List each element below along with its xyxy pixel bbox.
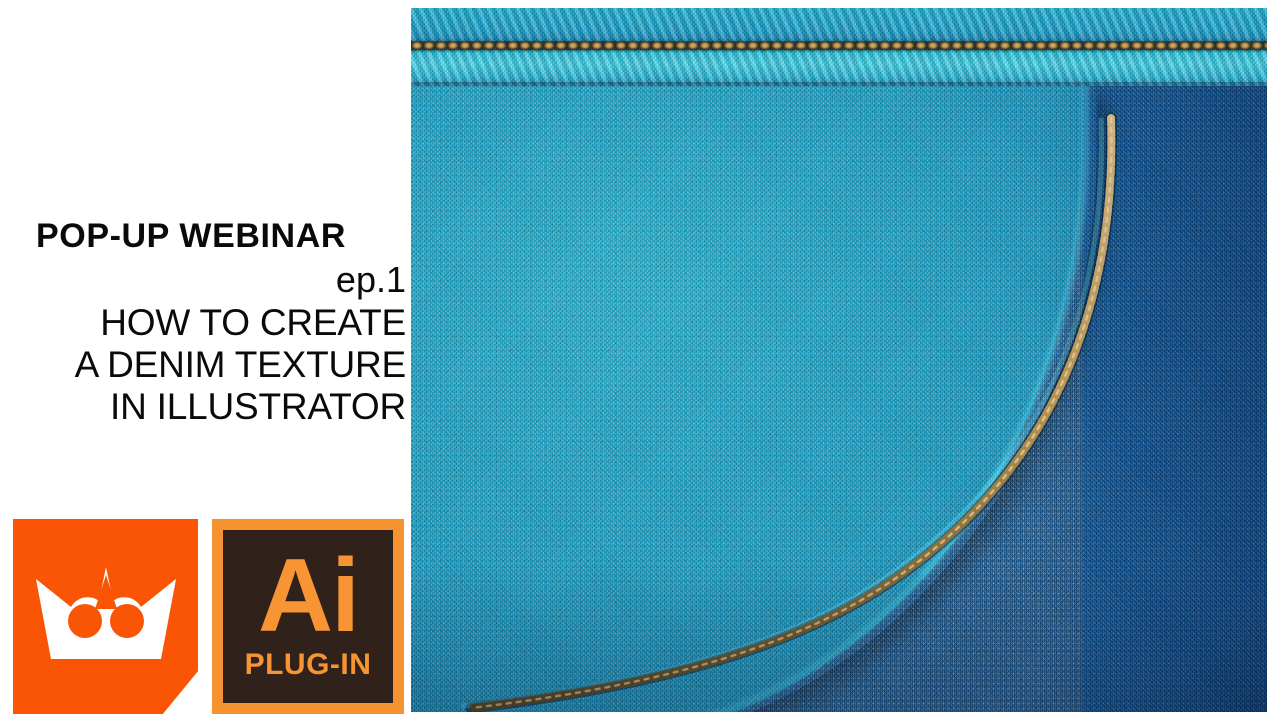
denim-pocket-photo — [411, 8, 1267, 712]
plugin-caption: PLUG-IN — [245, 650, 372, 680]
subtitle-line-1: HOW TO CREATE — [0, 302, 406, 344]
thumbnail-canvas: POP-UP WEBINAR ep.1 HOW TO CREATE A DENI… — [0, 0, 1280, 720]
illustrator-plugin-logo-badge: Ai PLUG-IN — [212, 519, 404, 714]
ai-glyph: Ai — [258, 544, 358, 648]
illustrator-plugin-inner: Ai PLUG-IN — [220, 527, 396, 706]
crown-icon — [31, 561, 181, 671]
subtitle-line-3: IN ILLUSTRATOR — [0, 386, 406, 428]
episode-label: ep.1 — [0, 258, 406, 302]
title-block: POP-UP WEBINAR ep.1 HOW TO CREATE A DENI… — [0, 216, 406, 428]
subtitle-line-2: A DENIM TEXTURE — [0, 344, 406, 386]
horizontal-top-stitch — [411, 41, 1267, 50]
waistband-bottom-edge — [411, 82, 1267, 87]
crown-logo-badge — [13, 519, 198, 714]
waistband — [411, 8, 1267, 86]
headline: POP-UP WEBINAR — [0, 216, 406, 256]
